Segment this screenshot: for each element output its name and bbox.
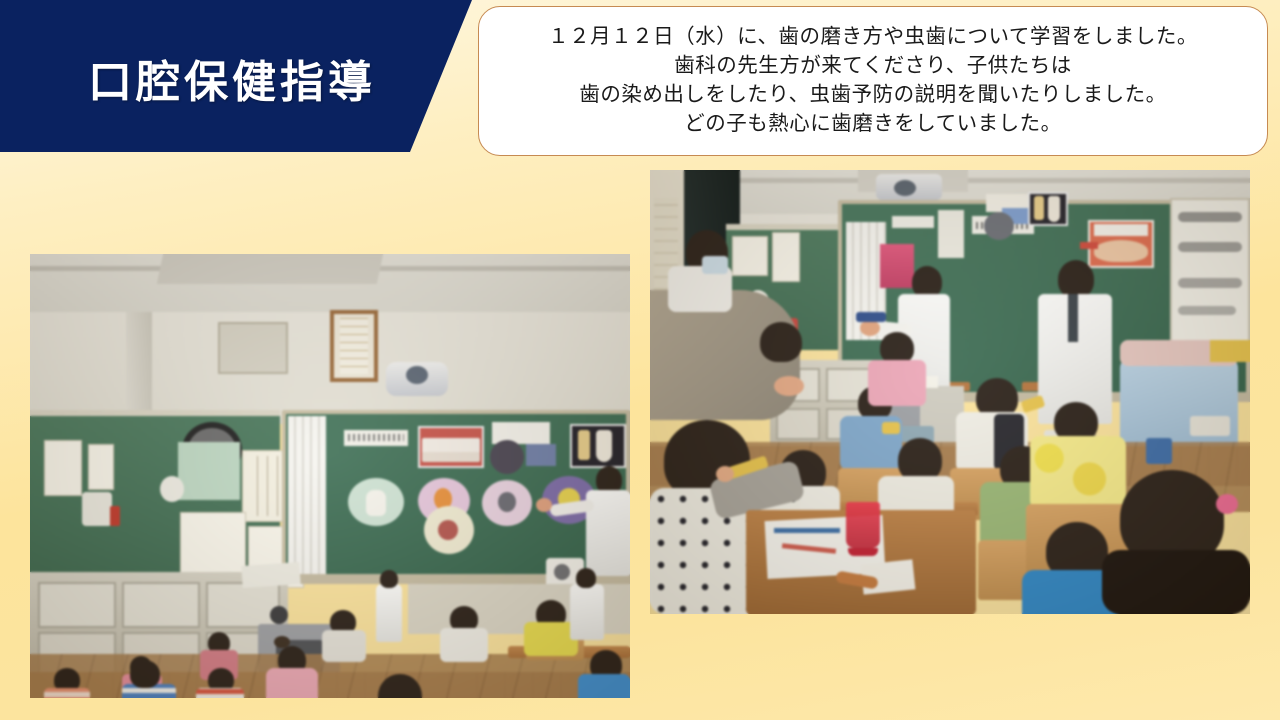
caption-line-2: 歯科の先生方が来てくださり、子供たちは — [674, 52, 1072, 81]
caption-line-4: どの子も熱心に歯磨きをしていました。 — [684, 110, 1061, 139]
caption-line-1: １２月１２日（水）に、歯の磨き方や虫歯について学習をしました。 — [548, 23, 1198, 52]
page-title: 口腔保健指導 — [88, 46, 376, 110]
classroom-photo-left — [30, 254, 630, 698]
classroom-photo-right — [650, 170, 1250, 614]
title-banner: 口腔保健指導 — [0, 0, 472, 152]
caption-box: １２月１２日（水）に、歯の磨き方や虫歯について学習をしました。 歯科の先生方が来… — [478, 6, 1268, 156]
caption-line-3: 歯の染め出しをしたり、虫歯予防の説明を聞いたりしました。 — [579, 81, 1166, 110]
